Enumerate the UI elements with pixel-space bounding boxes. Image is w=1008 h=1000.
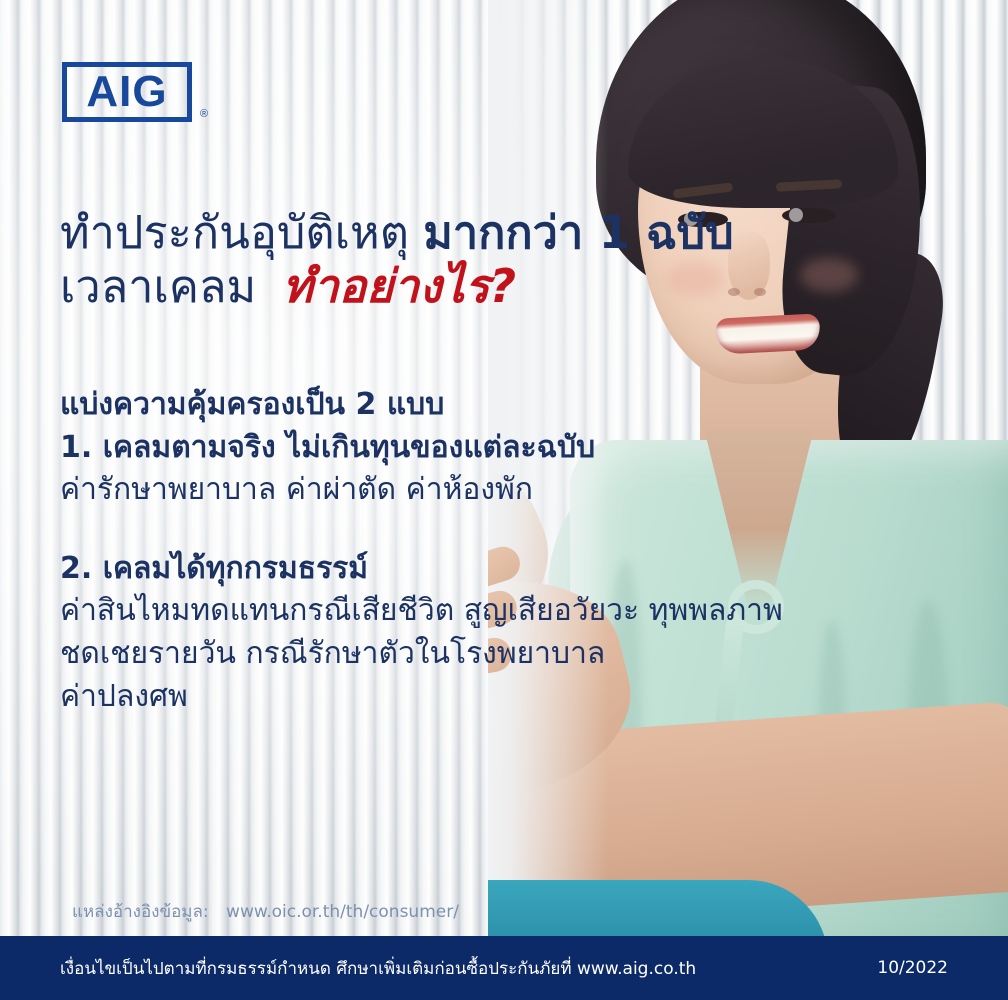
headline-line-1: ทำประกันอุบัติเหตุ มากกว่า 1 ฉบับ bbox=[60, 206, 780, 259]
coverage-item-2-title: 2. เคลมได้ทุกกรมธรรม์ bbox=[60, 548, 820, 591]
footer-date: 10/2022 bbox=[877, 958, 948, 978]
source-reference: แหล่งอ้างอิงข้อมูล: www.oic.or.th/th/con… bbox=[72, 898, 459, 925]
headline-line2-regular: เวลาเคลม bbox=[60, 260, 256, 313]
coverage-intro: แบ่งความคุ้มครองเป็น 2 แบบ bbox=[60, 384, 820, 427]
headline-block: ทำประกันอุบัติเหตุ มากกว่า 1 ฉบับ เวลาเค… bbox=[60, 206, 780, 313]
headline-line1-regular: ทำประกันอุบัติเหตุ bbox=[60, 206, 409, 259]
headline-line1-bold: มากกว่า 1 ฉบับ bbox=[423, 206, 733, 259]
coverage-item-2-detail-line-2: ชดเชยรายวัน กรณีรักษาตัวในโรงพยาบาล bbox=[60, 633, 820, 676]
coverage-item-1-detail: ค่ารักษาพยาบาล ค่าผ่าตัด ค่าห้องพัก bbox=[60, 469, 820, 512]
body-spacer bbox=[60, 512, 820, 548]
aig-logo[interactable]: AIG bbox=[62, 62, 192, 122]
poster-canvas: AIG ® ทำประกันอุบัติเหตุ มากกว่า 1 ฉบับ … bbox=[0, 0, 1008, 1000]
footer-disclaimer: เงื่อนไขเป็นไปตามที่กรมธรรม์กำหนด ศึกษาเ… bbox=[60, 955, 877, 982]
headline-line-2: เวลาเคลม ทำอย่างไร? bbox=[60, 259, 780, 313]
aig-logo-text: AIG bbox=[86, 70, 167, 114]
coverage-item-1-title: 1. เคลมตามจริง ไม่เกินทุนของแต่ละฉบับ bbox=[60, 427, 820, 470]
registered-trademark-icon: ® bbox=[200, 108, 208, 120]
coverage-item-2-detail-line-3: ค่าปลงศพ bbox=[60, 676, 820, 719]
source-label: แหล่งอ้างอิงข้อมูล: bbox=[72, 902, 209, 922]
coverage-item-2-detail-line-1: ค่าสินไหมทดแทนกรณีเสียชีวิต สูญเสียอวัยว… bbox=[60, 590, 820, 633]
body-copy-block: แบ่งความคุ้มครองเป็น 2 แบบ 1. เคลมตามจริ… bbox=[60, 384, 820, 718]
footer-bar: เงื่อนไขเป็นไปตามที่กรมธรรม์กำหนด ศึกษาเ… bbox=[0, 936, 1008, 1000]
headline-question-accent: ทำอย่างไร? bbox=[283, 259, 517, 313]
source-url-link[interactable]: www.oic.or.th/th/consumer/ bbox=[226, 902, 459, 922]
